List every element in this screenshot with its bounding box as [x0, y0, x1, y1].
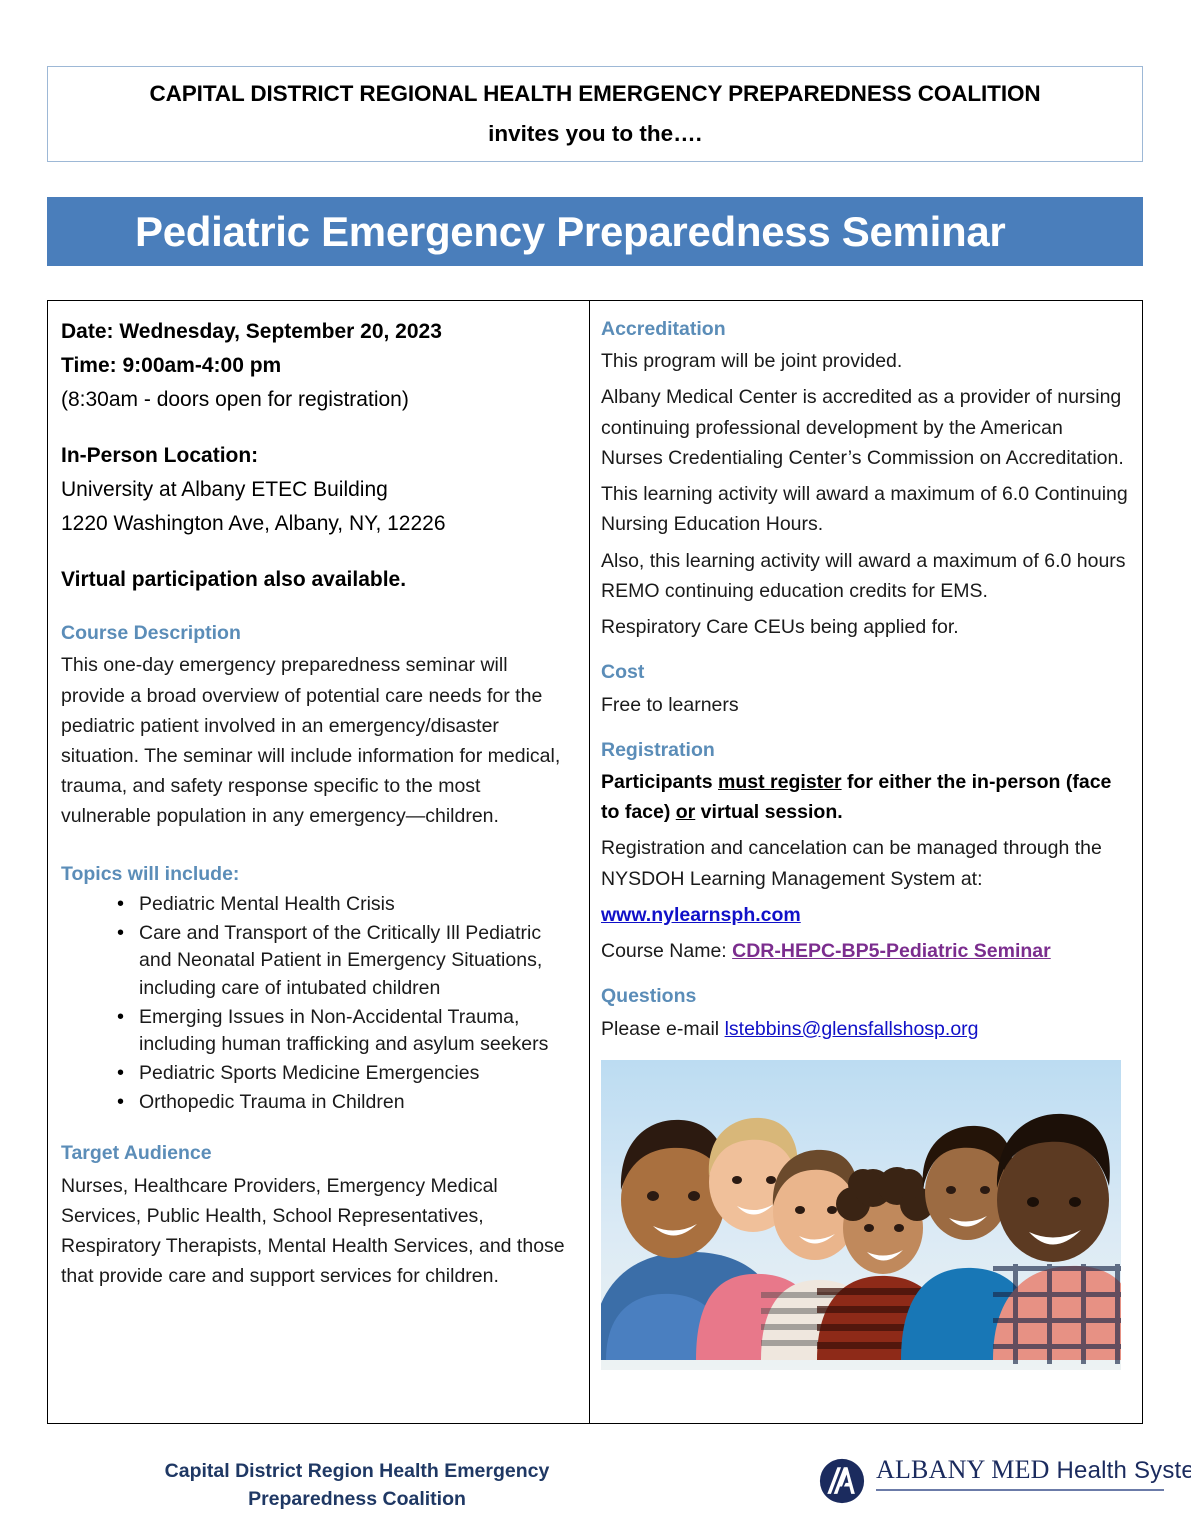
- location-address: 1220 Washington Ave, Albany, NY, 12226: [61, 507, 573, 541]
- spacer: [601, 726, 1128, 736]
- accreditation-paragraph-5: Respiratory Care CEUs being applied for.: [601, 612, 1128, 642]
- footer-coalition-name: Capital District Region Health Emergency…: [137, 1458, 577, 1513]
- list-item: Emerging Issues in Non-Accidental Trauma…: [117, 1004, 573, 1059]
- albany-med-logo-text: ALBANY MED Health System: [876, 1456, 1191, 1491]
- spacer: [61, 541, 573, 563]
- flyer-page: CAPITAL DISTRICT REGIONAL HEALTH EMERGEN…: [0, 0, 1191, 1536]
- topics-list: Pediatric Mental Health Crisis Care and …: [61, 891, 573, 1117]
- doors-open-line: (8:30am - doors open for registration): [61, 383, 573, 417]
- course-description-text: This one-day emergency preparedness semi…: [61, 650, 573, 831]
- cost-heading: Cost: [601, 658, 1128, 686]
- list-item: Pediatric Mental Health Crisis: [117, 891, 573, 919]
- questions-text: Please e-mail lstebbins@glensfallshosp.o…: [601, 1014, 1128, 1044]
- course-name-link[interactable]: CDR-HEPC-BP5-Pediatric Seminar: [732, 940, 1051, 962]
- registration-heading: Registration: [601, 736, 1128, 764]
- registration-managed-text: Registration and cancelation can be mana…: [601, 833, 1128, 893]
- footer-coalition-line-2: Preparedness Coalition: [137, 1486, 577, 1514]
- time-line: Time: 9:00am-4:00 pm: [61, 349, 573, 383]
- invitation-line-1: CAPITAL DISTRICT REGIONAL HEALTH EMERGEN…: [149, 80, 1040, 108]
- course-name-label: Course Name:: [601, 940, 732, 962]
- contact-email-link[interactable]: lstebbins@glensfallshosp.org: [725, 1018, 979, 1040]
- logo-caps: ALBANY MED: [876, 1455, 1050, 1484]
- invitation-line-2: invites you to the….: [488, 120, 702, 148]
- cost-text: Free to learners: [601, 690, 1128, 720]
- accreditation-heading: Accreditation: [601, 315, 1128, 343]
- albany-med-logo: ALBANY MED Health System: [819, 1456, 1191, 1504]
- accreditation-paragraph-1: This program will be joint provided.: [601, 346, 1128, 376]
- logo-underline-rule: [876, 1489, 1164, 1491]
- list-item: Orthopedic Trauma in Children: [117, 1089, 573, 1117]
- topics-heading: Topics will include:: [61, 860, 573, 888]
- spacer: [601, 972, 1128, 982]
- questions-heading: Questions: [601, 982, 1128, 1010]
- must-register-suffix: virtual session.: [695, 801, 842, 823]
- children-photo: [601, 1060, 1121, 1370]
- must-register-emphasis: must register: [718, 771, 842, 793]
- spacer: [61, 838, 573, 860]
- logo-wordmark: ALBANY MED Health System: [876, 1456, 1191, 1485]
- spacer: [61, 417, 573, 439]
- logo-rest: Health System: [1050, 1457, 1191, 1484]
- children-photo-illustration: [601, 1060, 1121, 1370]
- right-column: Accreditation This program will be joint…: [590, 301, 1142, 1423]
- registration-url-line: www.nylearnsph.com: [601, 900, 1128, 930]
- registration-must-register-statement: Participants must register for either th…: [601, 767, 1128, 827]
- must-register-or: or: [676, 801, 696, 823]
- accreditation-paragraph-2: Albany Medical Center is accredited as a…: [601, 382, 1128, 473]
- left-column: Date: Wednesday, September 20, 2023 Time…: [48, 301, 590, 1423]
- target-audience-heading: Target Audience: [61, 1139, 573, 1167]
- virtual-participation-note: Virtual participation also available.: [61, 563, 573, 597]
- target-audience-text: Nurses, Healthcare Providers, Emergency …: [61, 1171, 573, 1292]
- footer: Capital District Region Health Emergency…: [47, 1452, 1143, 1528]
- course-name-line: Course Name: CDR-HEPC-BP5-Pediatric Semi…: [601, 936, 1128, 966]
- footer-coalition-line-1: Capital District Region Health Emergency: [137, 1458, 577, 1486]
- albany-med-logo-icon: [819, 1458, 865, 1504]
- nylearnsph-link[interactable]: www.nylearnsph.com: [601, 904, 801, 926]
- spacer: [61, 1117, 573, 1139]
- spacer: [61, 597, 573, 619]
- list-item: Care and Transport of the Critically Ill…: [117, 920, 573, 1003]
- location-heading: In-Person Location:: [61, 439, 573, 473]
- list-item: Pediatric Sports Medicine Emergencies: [117, 1060, 573, 1088]
- content-table: Date: Wednesday, September 20, 2023 Time…: [47, 300, 1143, 1424]
- seminar-title: Pediatric Emergency Preparedness Seminar: [135, 211, 1005, 253]
- invitation-header-box: CAPITAL DISTRICT REGIONAL HEALTH EMERGEN…: [47, 66, 1143, 162]
- location-name: University at Albany ETEC Building: [61, 473, 573, 507]
- accreditation-paragraph-4: Also, this learning activity will award …: [601, 546, 1128, 606]
- must-register-prefix: Participants: [601, 771, 718, 793]
- course-description-heading: Course Description: [61, 619, 573, 647]
- spacer: [601, 648, 1128, 658]
- accreditation-paragraph-3: This learning activity will award a maxi…: [601, 479, 1128, 539]
- date-line: Date: Wednesday, September 20, 2023: [61, 315, 573, 349]
- questions-prefix: Please e-mail: [601, 1018, 725, 1040]
- seminar-title-banner: Pediatric Emergency Preparedness Seminar: [47, 197, 1143, 266]
